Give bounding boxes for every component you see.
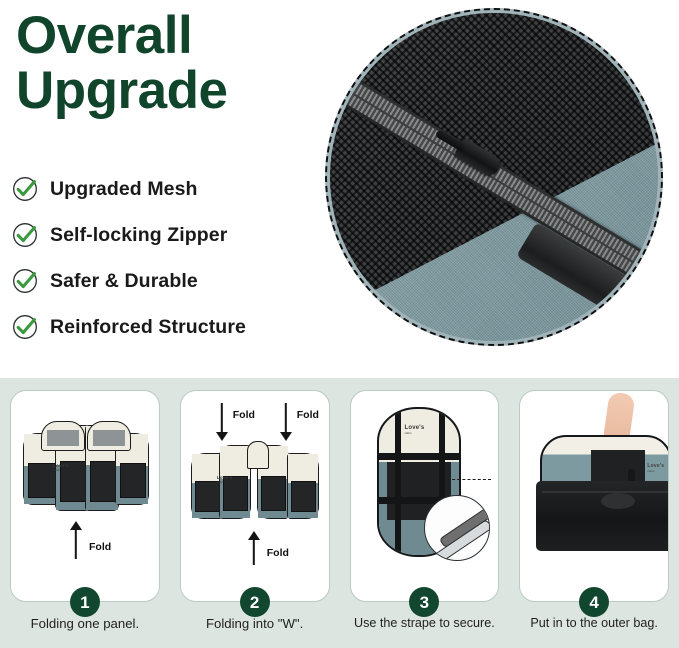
infographic-page: Overall Upgrade Upgraded Mesh (0, 0, 679, 648)
fold-label: Fold (267, 547, 289, 559)
feature-label: Reinforced Structure (50, 316, 246, 339)
fold-label: Fold (297, 409, 319, 421)
feature-label: Self-locking Zipper (50, 224, 227, 247)
feature-item: Self-locking Zipper (12, 212, 332, 258)
steps-row: Love's cabin Fold 1 Folding one panel. (0, 378, 679, 648)
brand-sub: cabin (647, 469, 664, 473)
step-caption: Use the strape to secure. (340, 616, 510, 630)
playpen-w-shape: Love's cabin (191, 445, 321, 523)
step-caption: Put in to the outer bag. (509, 616, 679, 630)
strap-horizontal (377, 453, 461, 460)
playpen-open: Love's cabin (23, 421, 149, 513)
top-section: Overall Upgrade Upgraded Mesh (0, 0, 679, 378)
brand-sub: cabin (217, 480, 233, 484)
bag-seam (542, 491, 668, 493)
check-circle-icon (12, 176, 38, 202)
feature-item: Safer & Durable (12, 258, 332, 304)
strap-detail-inset (424, 495, 490, 561)
headline-line-2: Upgrade (16, 63, 336, 118)
step-3-illustration: Love's cabin (351, 391, 499, 601)
step-4: Love's cabin 4 Put i (509, 378, 679, 648)
feature-label: Upgraded Mesh (50, 178, 198, 201)
step-2-illustration: Fold Fold (181, 391, 329, 601)
feature-label: Safer & Durable (50, 270, 198, 293)
step-number-badge: 2 (240, 587, 270, 617)
step-card: Love's cabin 4 (519, 390, 669, 602)
fold-arrow-down-icon (279, 403, 293, 441)
brand-mark: Love's cabin (217, 475, 233, 484)
step-3: Love's cabin 3 Use the strape to secure. (340, 378, 510, 648)
zipper-closeup-photo (325, 8, 663, 346)
outer-bag: Love's cabin (536, 435, 668, 551)
check-circle-icon (12, 222, 38, 248)
step-card: Fold Fold (180, 390, 330, 602)
headline-line-1: Overall (16, 6, 192, 65)
step-caption: Folding into "W". (170, 616, 340, 631)
step-number-badge: 4 (579, 587, 609, 617)
fold-label: Fold (233, 409, 255, 421)
fold-arrow-up-icon (69, 521, 83, 559)
bag-outer-shell (536, 481, 668, 551)
step-card: Love's cabin Fold 1 (10, 390, 160, 602)
brand-sub: cabin (405, 431, 425, 435)
check-circle-icon (12, 268, 38, 294)
bag-handle-knot (601, 493, 635, 509)
step-2: Fold Fold (170, 378, 340, 648)
step-4-illustration: Love's cabin (520, 391, 668, 601)
step-number-badge: 1 (70, 587, 100, 617)
fold-arrow-up-icon (247, 531, 261, 565)
feature-list: Upgraded Mesh Self-locking Zipper (12, 166, 332, 350)
brand-mark: Love's cabin (647, 463, 664, 473)
step-number-badge: 3 (409, 587, 439, 617)
fold-arrow-down-icon (215, 403, 229, 441)
folding-steps-section: Love's cabin Fold 1 Folding one panel. (0, 378, 679, 648)
callout-dashed-line (447, 479, 491, 480)
brand-mark: Love's cabin (53, 463, 69, 472)
feature-item: Reinforced Structure (12, 304, 332, 350)
step-caption: Folding one panel. (0, 616, 170, 631)
strap-vertical (395, 409, 401, 555)
feature-item: Upgraded Mesh (12, 166, 332, 212)
step-1: Love's cabin Fold 1 Folding one panel. (0, 378, 170, 648)
check-circle-icon (12, 314, 38, 340)
page-title: Overall Upgrade (16, 8, 336, 118)
brand-sub: cabin (53, 468, 69, 472)
photo-inner (330, 13, 658, 341)
step-card: Love's cabin 3 (350, 390, 500, 602)
brand-mark: Love's cabin (405, 425, 425, 435)
fold-label: Fold (89, 541, 111, 553)
step-1-illustration: Love's cabin Fold (11, 391, 159, 601)
